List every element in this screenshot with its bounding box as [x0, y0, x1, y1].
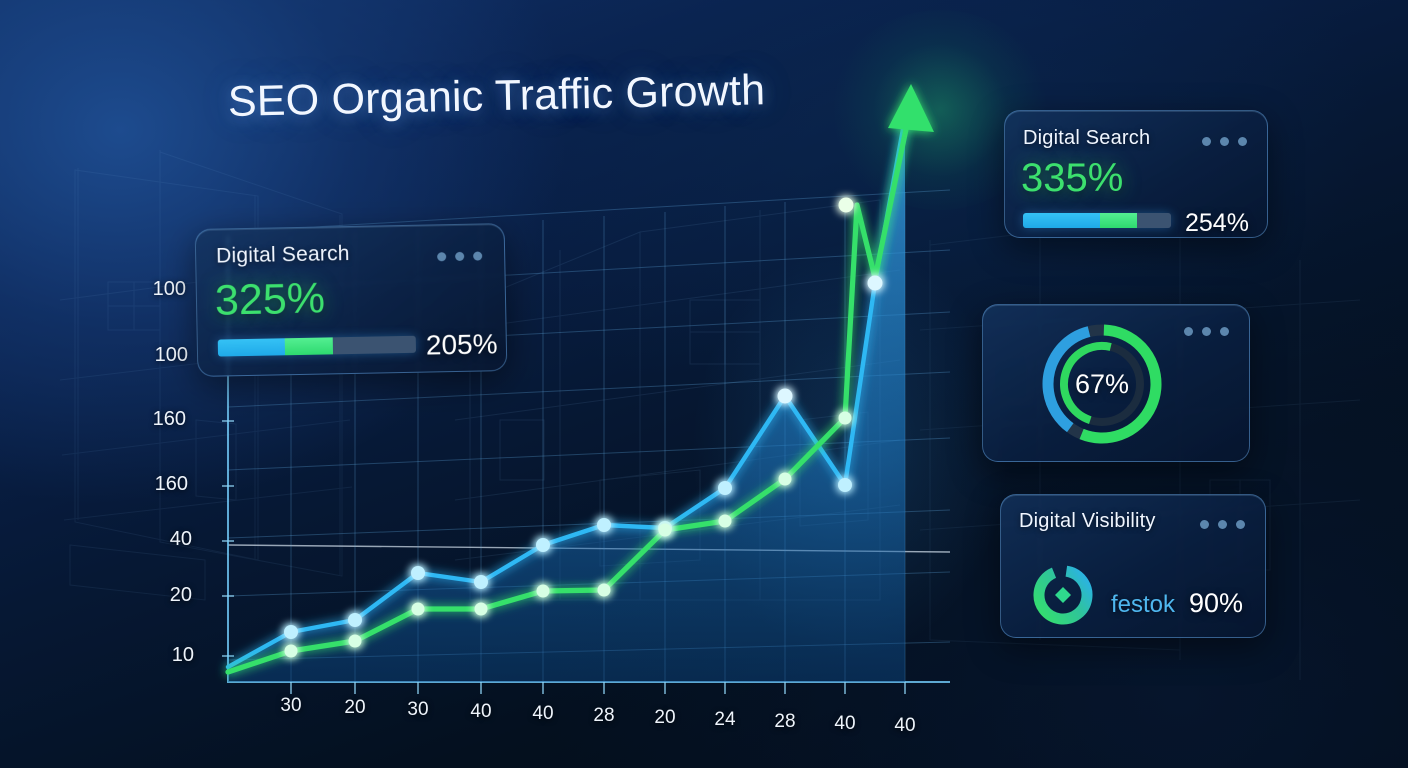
more-dots-icon[interactable] [1200, 520, 1245, 529]
progress-bar [1023, 213, 1171, 228]
progress-segment-track [333, 336, 416, 355]
page-title: SEO Organic Traffic Growth [227, 66, 765, 127]
progress-bar [218, 336, 416, 357]
card-secondary-value: 205% [426, 328, 498, 361]
card-value: 335% [1021, 156, 1123, 201]
progress-segment-blue [218, 338, 286, 356]
chart-area-glow [690, 240, 1010, 660]
x-axis-label-6: 20 [640, 707, 690, 729]
x-axis-label-0: 30 [266, 695, 316, 717]
y-axis-label-0: 100 [128, 278, 186, 301]
visibility-value: 90% [1189, 588, 1243, 619]
gauge-center-value: 67% [983, 369, 1221, 400]
y-axis-label-6: 10 [136, 644, 194, 667]
card-title: Digital Search [216, 242, 350, 269]
card-digital-visibility[interactable]: Digital Visibility festok 90% [1000, 494, 1266, 638]
y-axis-label-5: 20 [134, 584, 192, 607]
x-axis-label-9: 40 [820, 713, 870, 735]
card-secondary-value: 254% [1185, 209, 1249, 238]
x-axis-label-4: 40 [518, 703, 568, 725]
card-value: 325% [215, 275, 326, 326]
y-axis-label-3: 160 [130, 473, 188, 496]
progress-segment-green [1100, 213, 1137, 228]
dashboard-canvas: SEO Organic Traffic Growth 100 100 160 1… [0, 0, 1408, 768]
progress-segment-green [285, 337, 333, 355]
y-axis-label-2: 160 [128, 408, 186, 431]
card-digital-search-right[interactable]: Digital Search 335% 254% [1004, 110, 1268, 238]
chart-area-fill [228, 118, 905, 682]
y-axis-label-1: 100 [130, 344, 188, 367]
progress-segment-track [1137, 213, 1171, 228]
progress-segment-blue [1023, 213, 1100, 228]
card-gauge[interactable]: 67% [982, 304, 1250, 462]
x-axis-label-1: 20 [330, 697, 380, 719]
x-axis-label-8: 28 [760, 711, 810, 733]
x-axis-label-10: 40 [880, 715, 930, 737]
x-axis-label-7: 24 [700, 709, 750, 731]
brand-label: festok [1111, 591, 1175, 619]
x-axis-label-3: 40 [456, 701, 506, 723]
card-digital-search-left[interactable]: Digital Search 325% 205% [195, 223, 508, 377]
y-axis-label-4: 40 [134, 528, 192, 551]
growth-arrow-icon [888, 84, 934, 132]
more-dots-icon[interactable] [1202, 137, 1247, 146]
card-title: Digital Search [1023, 127, 1150, 150]
series-line-blue [228, 118, 905, 667]
more-dots-icon[interactable] [437, 251, 482, 261]
card-title: Digital Visibility [1019, 510, 1156, 533]
x-axis-label-5: 28 [579, 705, 629, 727]
x-axis-label-2: 30 [393, 699, 443, 721]
series-line-green [228, 110, 910, 672]
ring-dot-icon [1025, 557, 1101, 633]
